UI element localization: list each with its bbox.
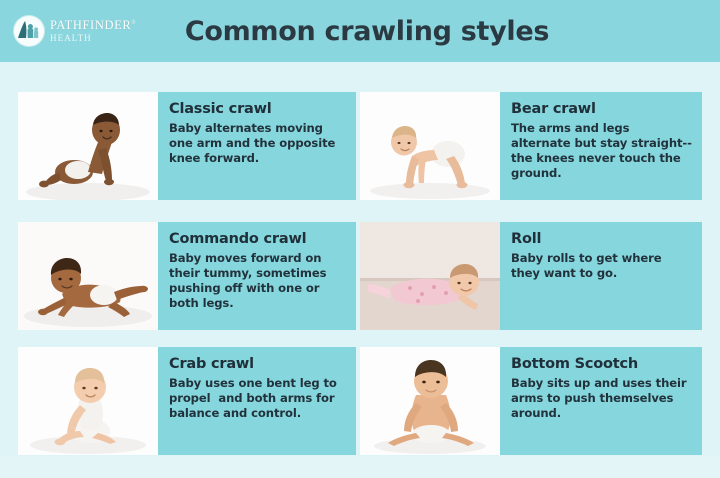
grid-row: Classic crawl Baby alternates moving one… [0, 92, 720, 200]
card-title: Bear crawl [511, 101, 692, 117]
card-body: Baby uses one bent leg to propel and bot… [169, 376, 346, 421]
card-body: Baby moves forward on their tummy, somet… [169, 251, 346, 311]
card-commando-crawl: Commando crawl Baby moves forward on the… [158, 222, 356, 330]
infographic-page: PATHFINDER® HEALTH Common crawling style… [0, 0, 720, 478]
brand-name: PATHFINDER® [50, 19, 136, 32]
card-body: The arms and legs alternate but stay str… [511, 121, 692, 181]
style-card-classic-crawl[interactable]: Classic crawl Baby alternates moving one… [18, 92, 356, 200]
grid-row: Commando crawl Baby moves forward on the… [0, 222, 720, 330]
card-body: Baby rolls to get where they want to go. [511, 251, 692, 281]
card-title: Crab crawl [169, 356, 346, 372]
card-bear-crawl: Bear crawl The arms and legs alternate b… [500, 92, 702, 200]
card-title: Classic crawl [169, 101, 346, 117]
styles-grid: Classic crawl Baby alternates moving one… [0, 62, 720, 456]
page-title: Common crawling styles [164, 16, 570, 47]
card-crab-crawl: Crab crawl Baby uses one bent leg to pro… [158, 347, 356, 455]
brand-wordmark: PATHFINDER® HEALTH [50, 19, 136, 43]
style-card-roll[interactable]: Roll Baby rolls to get where they want t… [360, 222, 702, 330]
photo-crab-crawl [18, 347, 158, 455]
footer-band [0, 456, 720, 478]
pathfinder-circle-logo-icon [14, 16, 44, 46]
photo-bottom-scootch [360, 347, 500, 455]
style-card-bottom-scootch[interactable]: Bottom Scootch Baby sits up and uses the… [360, 347, 702, 455]
page-header: PATHFINDER® HEALTH Common crawling style… [0, 0, 720, 62]
card-body: Baby alternates moving one arm and the o… [169, 121, 346, 166]
style-card-bear-crawl[interactable]: Bear crawl The arms and legs alternate b… [360, 92, 702, 200]
card-title: Commando crawl [169, 231, 346, 247]
card-body: Baby sits up and uses their arms to push… [511, 376, 692, 421]
brand-trademark-icon: ® [131, 20, 136, 26]
style-card-commando-crawl[interactable]: Commando crawl Baby moves forward on the… [18, 222, 356, 330]
card-classic-crawl: Classic crawl Baby alternates moving one… [158, 92, 356, 200]
photo-roll [360, 222, 500, 330]
card-title: Bottom Scootch [511, 356, 692, 372]
card-roll: Roll Baby rolls to get where they want t… [500, 222, 702, 330]
photo-bear-crawl [360, 92, 500, 200]
photo-commando-crawl [18, 222, 158, 330]
photo-classic-crawl [18, 92, 158, 200]
style-card-crab-crawl[interactable]: Crab crawl Baby uses one bent leg to pro… [18, 347, 356, 455]
card-bottom-scootch: Bottom Scootch Baby sits up and uses the… [500, 347, 702, 455]
brand-logo[interactable]: PATHFINDER® HEALTH [14, 16, 164, 46]
card-title: Roll [511, 231, 692, 247]
brand-subtitle: HEALTH [50, 34, 136, 43]
grid-row: Crab crawl Baby uses one bent leg to pro… [0, 347, 720, 455]
